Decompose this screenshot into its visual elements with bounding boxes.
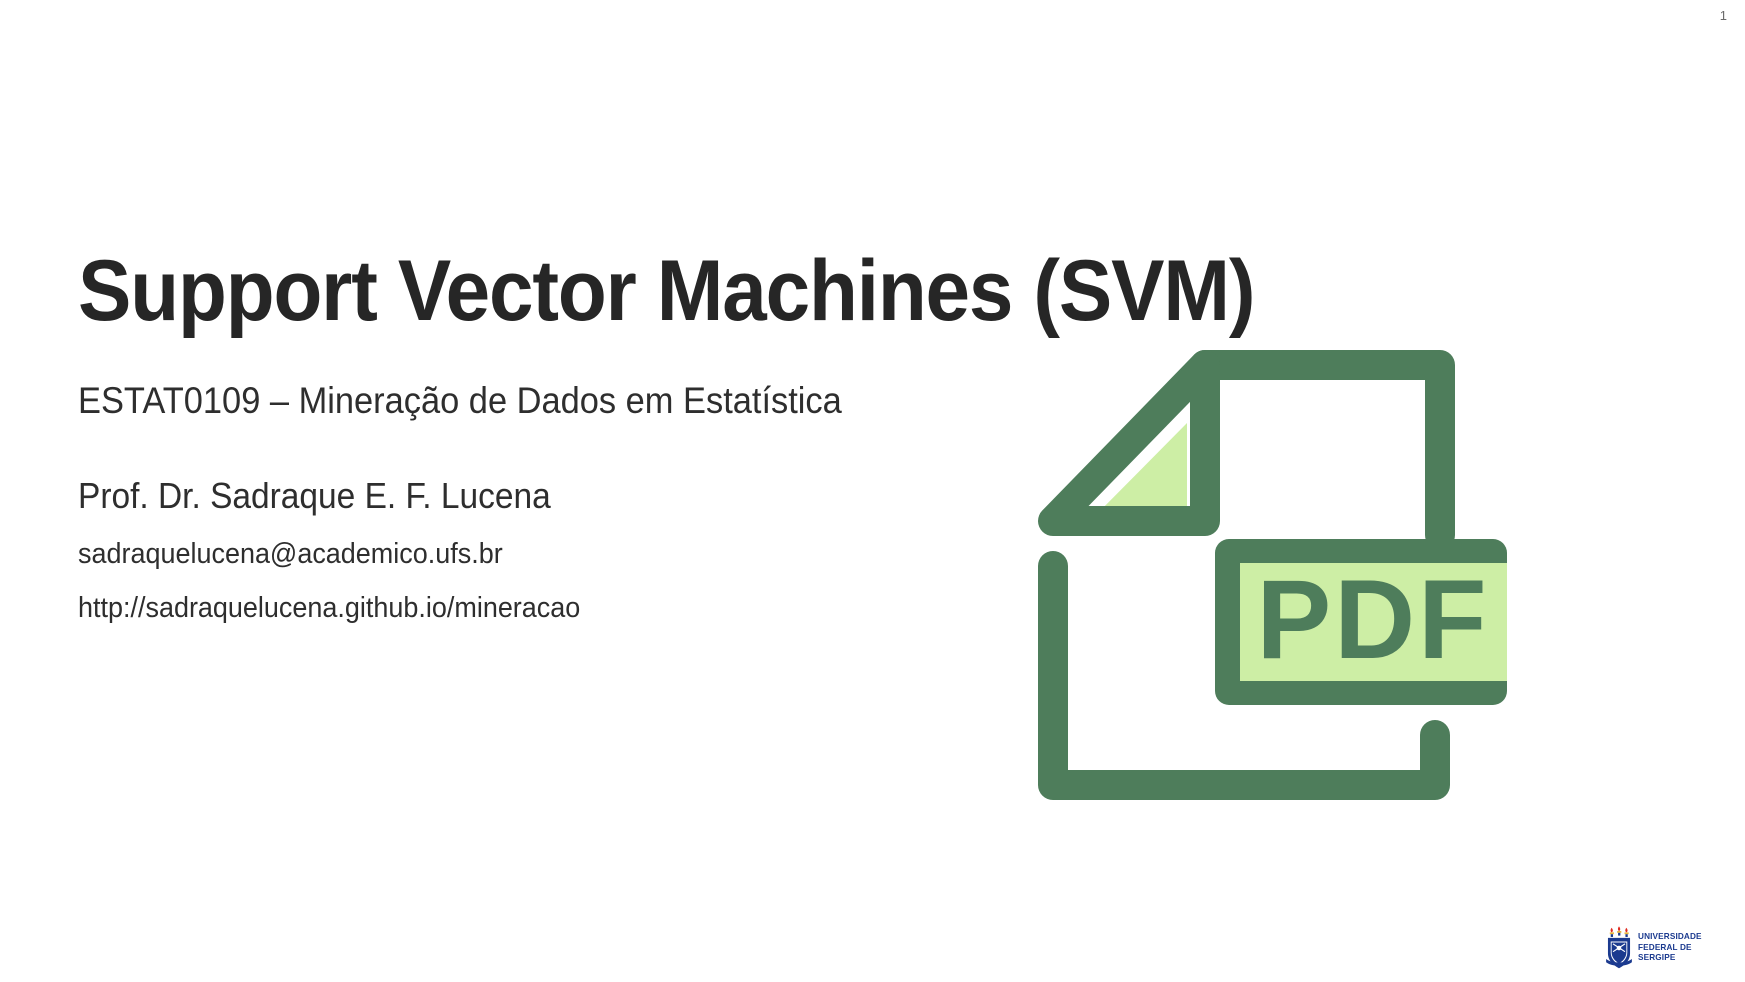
ufs-logo-line-1: UNIVERSIDADE (1638, 932, 1702, 943)
page-title: Support Vector Machines (SVM) (78, 246, 1027, 336)
slide-canvas: 1 Support Vector Machines (SVM) ESTAT010… (0, 0, 1745, 982)
pdf-icon-badge-label: PDF (1257, 557, 1490, 682)
ufs-logo-line-3: SERGIPE (1638, 953, 1702, 964)
author-name: Prof. Dr. Sadraque E. F. Lucena (78, 423, 1027, 516)
ufs-logo: UNIVERSIDADE FEDERAL DE SERGIPE (1605, 922, 1731, 974)
torch-flames (1610, 926, 1629, 937)
author-email: sadraquelucena@academico.ufs.br (78, 516, 1027, 571)
course-subtitle: ESTAT0109 – Mineração de Dados em Estatí… (78, 336, 1027, 423)
pdf-file-icon: PDF (1035, 335, 1515, 815)
ufs-logo-line-2: FEDERAL DE (1638, 943, 1702, 954)
pdf-icon-page-outline (1053, 365, 1440, 535)
slide-number: 1 (1720, 8, 1727, 23)
author-website: http://sadraquelucena.github.io/mineraca… (78, 572, 1027, 625)
title-text-block: Support Vector Machines (SVM) ESTAT0109 … (78, 246, 1098, 625)
ufs-crest-icon (1605, 925, 1633, 971)
ufs-logo-text: UNIVERSIDADE FEDERAL DE SERGIPE (1638, 932, 1702, 964)
